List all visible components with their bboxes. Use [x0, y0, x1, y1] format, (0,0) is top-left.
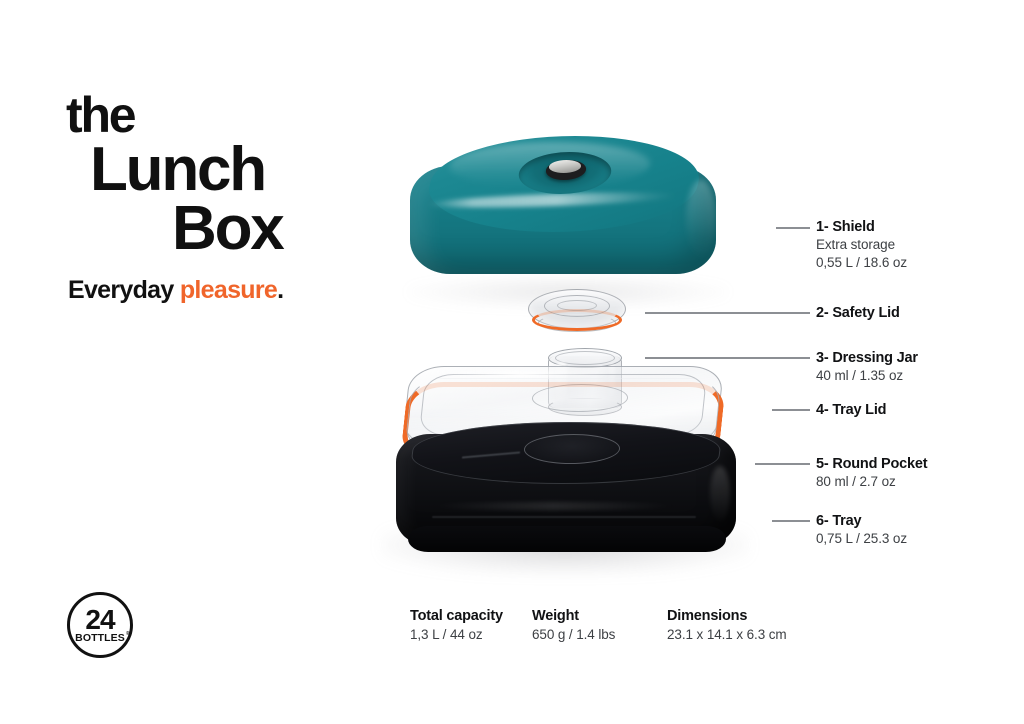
part-shield — [402, 136, 724, 288]
safety-lid-orange-gasket — [532, 309, 622, 331]
callout-tray-leader-line — [772, 520, 810, 522]
part-tray — [388, 420, 744, 560]
callout-dressing-jar-leader-line — [645, 357, 810, 359]
tagline-period: . — [277, 276, 283, 304]
spec-weight: Weight 650 g / 1.4 lbs — [532, 607, 667, 644]
tray-seam — [432, 516, 696, 518]
callout-tray-lid-text: 4- Tray Lid — [816, 401, 886, 419]
brand-logo-wordmark: BOTTLES® — [75, 633, 125, 644]
spec-total-capacity-label: Total capacity — [410, 607, 532, 626]
callout-dressing-jar-title: 3- Dressing Jar — [816, 349, 918, 367]
product-infographic: the Lunch Box Everyday pleasure. 24 BOTT… — [0, 0, 1024, 724]
callout-tray-text: 6- Tray 0,75 L / 25.3 oz — [816, 512, 907, 548]
callout-tray-lid-leader-line — [772, 409, 810, 411]
brand-logo-number: 24 — [85, 607, 114, 632]
part-safety-lid — [522, 285, 632, 337]
spec-weight-value: 650 g / 1.4 lbs — [532, 626, 667, 644]
callout-shield-sub2: 0,55 L / 18.6 oz — [816, 254, 907, 272]
registered-trademark-icon: ® — [126, 632, 130, 637]
callout-round-pocket-sub1: 80 ml / 2.7 oz — [816, 473, 927, 491]
shield-side-gloss — [686, 180, 716, 258]
callout-shield-leader-line — [776, 227, 810, 229]
callout-round-pocket-leader-line — [755, 463, 810, 465]
tray-front-gloss — [428, 502, 678, 510]
callout-tray-title: 6- Tray — [816, 512, 907, 530]
callout-round-pocket-text: 5- Round Pocket 80 ml / 2.7 oz — [816, 455, 927, 491]
tagline-accent: pleasure — [180, 276, 277, 304]
tray-side-gloss — [710, 466, 730, 522]
tray-base — [408, 526, 726, 552]
spec-dimensions-label: Dimensions — [667, 607, 787, 626]
callout-shield-title: 1- Shield — [816, 218, 907, 236]
callout-safety-lid-leader-line — [645, 312, 810, 314]
spec-total-capacity: Total capacity 1,3 L / 44 oz — [410, 607, 532, 644]
product-exploded-view — [330, 120, 800, 600]
callout-dressing-jar-text: 3- Dressing Jar 40 ml / 1.35 oz — [816, 349, 918, 385]
brand-logo-24bottles: 24 BOTTLES® — [67, 592, 133, 658]
callout-shield-text: 1- Shield Extra storage 0,55 L / 18.6 oz — [816, 218, 907, 273]
callout-round-pocket-title: 5- Round Pocket — [816, 455, 927, 473]
spec-total-capacity-value: 1,3 L / 44 oz — [410, 626, 532, 644]
spec-strip: Total capacity 1,3 L / 44 oz Weight 650 … — [410, 607, 787, 644]
callout-tray-lid-title: 4- Tray Lid — [816, 401, 886, 419]
callout-safety-lid-text: 2- Safety Lid — [816, 304, 900, 322]
callout-shield-sub1: Extra storage — [816, 236, 907, 254]
brand-logo-word: BOTTLES — [75, 632, 125, 644]
callout-tray-sub1: 0,75 L / 25.3 oz — [816, 530, 907, 548]
tagline-plain: Everyday — [68, 276, 180, 304]
spec-dimensions-value: 23.1 x 14.1 x 6.3 cm — [667, 626, 787, 644]
callout-safety-lid-title: 2- Safety Lid — [816, 304, 900, 322]
spec-weight-label: Weight — [532, 607, 667, 626]
spec-dimensions: Dimensions 23.1 x 14.1 x 6.3 cm — [667, 607, 787, 644]
callout-dressing-jar-sub1: 40 ml / 1.35 oz — [816, 367, 918, 385]
